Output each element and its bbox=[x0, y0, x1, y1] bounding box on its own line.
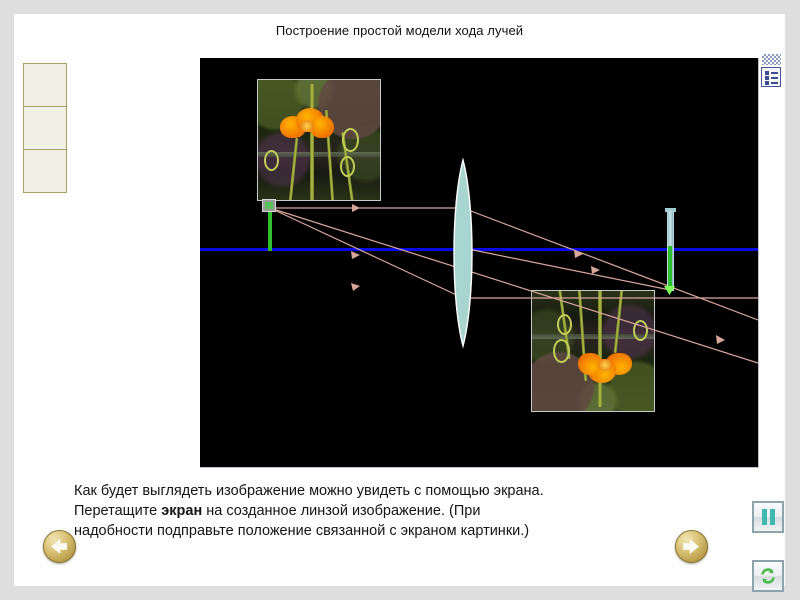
instruction-line-2-before: Перетащите bbox=[74, 503, 161, 519]
palette-slot-3[interactable] bbox=[23, 149, 67, 193]
object-palette bbox=[23, 63, 69, 192]
arrow-left-icon bbox=[51, 539, 67, 554]
instruction-line-2-after: на созданное линзой изображение. (При bbox=[202, 503, 480, 519]
next-button[interactable] bbox=[675, 530, 708, 563]
instruction-keyword: экран bbox=[161, 503, 202, 519]
instruction-line-1: Как будет выглядеть изображение можно ув… bbox=[74, 481, 684, 501]
prev-button[interactable] bbox=[43, 530, 76, 563]
palette-slot-2[interactable] bbox=[23, 106, 67, 150]
reset-loop-icon bbox=[758, 566, 778, 586]
converging-lens[interactable] bbox=[445, 158, 481, 348]
instruction-line-3: надобности подправьте положение связанно… bbox=[74, 521, 684, 541]
toolbox-panel bbox=[760, 54, 784, 87]
object-arrow[interactable] bbox=[268, 206, 272, 251]
palette-slot-1[interactable] bbox=[23, 63, 67, 107]
image-arrow bbox=[668, 246, 672, 291]
properties-list-icon[interactable] bbox=[761, 67, 781, 87]
ray-diagram-canvas[interactable] bbox=[200, 58, 759, 468]
instruction-text: Как будет выглядеть изображение можно ув… bbox=[74, 481, 684, 541]
arrow-right-icon bbox=[683, 539, 699, 554]
drag-grip-icon[interactable] bbox=[762, 54, 781, 65]
instruction-line-2: Перетащите экран на созданное линзой изо… bbox=[74, 501, 684, 521]
pause-icon-bar-right bbox=[770, 509, 775, 525]
page-title: Построение простой модели хода лучей bbox=[14, 23, 785, 38]
simulation-window: Построение простой модели хода лучей bbox=[0, 0, 800, 600]
object-drag-handle[interactable] bbox=[262, 199, 276, 212]
pause-button[interactable] bbox=[752, 501, 784, 533]
pause-icon-bar-left bbox=[762, 509, 767, 525]
page-surface: Построение простой модели хода лучей bbox=[14, 14, 785, 586]
reset-button[interactable] bbox=[752, 560, 784, 592]
